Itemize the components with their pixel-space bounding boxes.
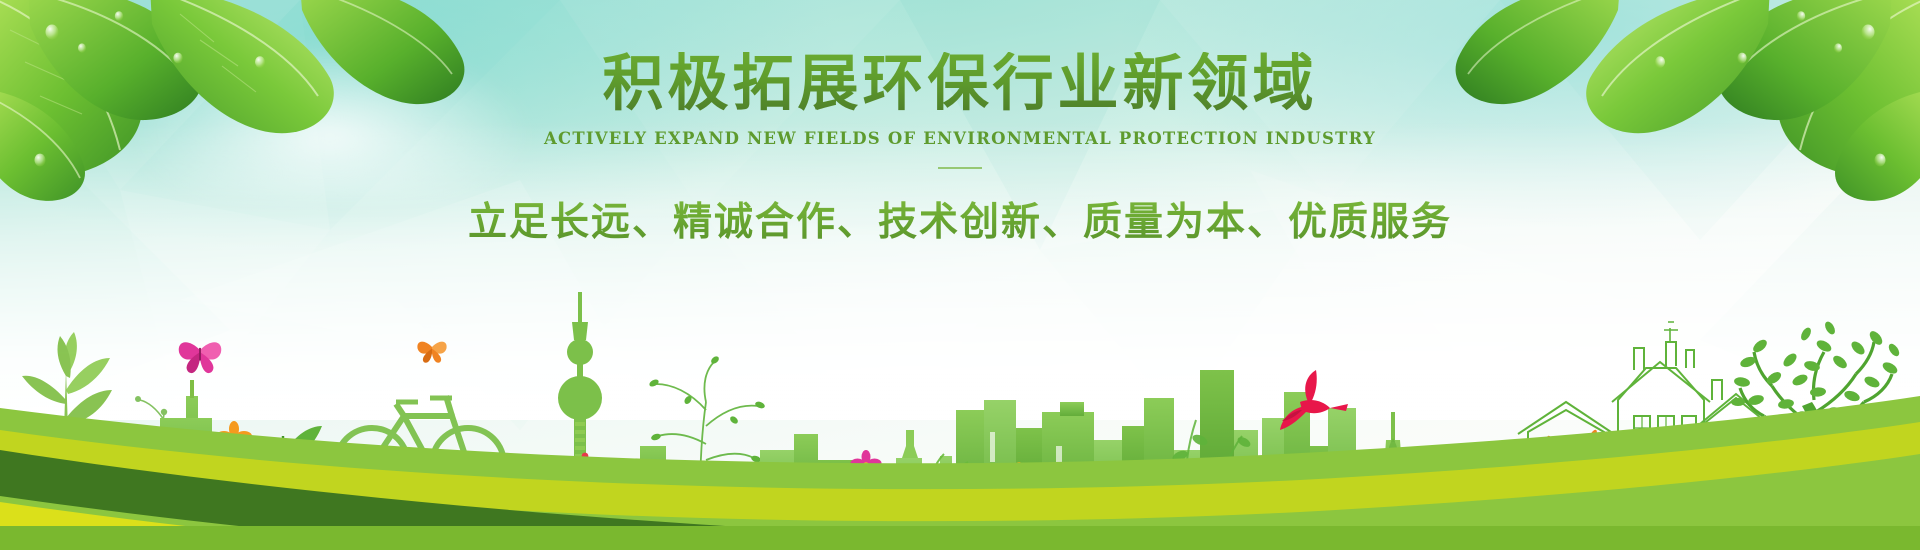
slogan-text: 立足长远、精诚合作、技术创新、质量为本、优质服务 bbox=[0, 191, 1920, 247]
eco-banner: 积极拓展环保行业新领域 ACTIVELY EXPAND NEW FIELDS O… bbox=[0, 0, 1920, 550]
ribbon-base-fill bbox=[0, 526, 1920, 550]
divider-rule bbox=[938, 167, 982, 169]
headline-block: 积极拓展环保行业新领域 ACTIVELY EXPAND NEW FIELDS O… bbox=[0, 52, 1920, 247]
page-title: 积极拓展环保行业新领域 bbox=[0, 52, 1920, 116]
ribbon-bands bbox=[0, 330, 1920, 550]
subtitle-english: ACTIVELY EXPAND NEW FIELDS OF ENVIRONMEN… bbox=[0, 129, 1920, 148]
